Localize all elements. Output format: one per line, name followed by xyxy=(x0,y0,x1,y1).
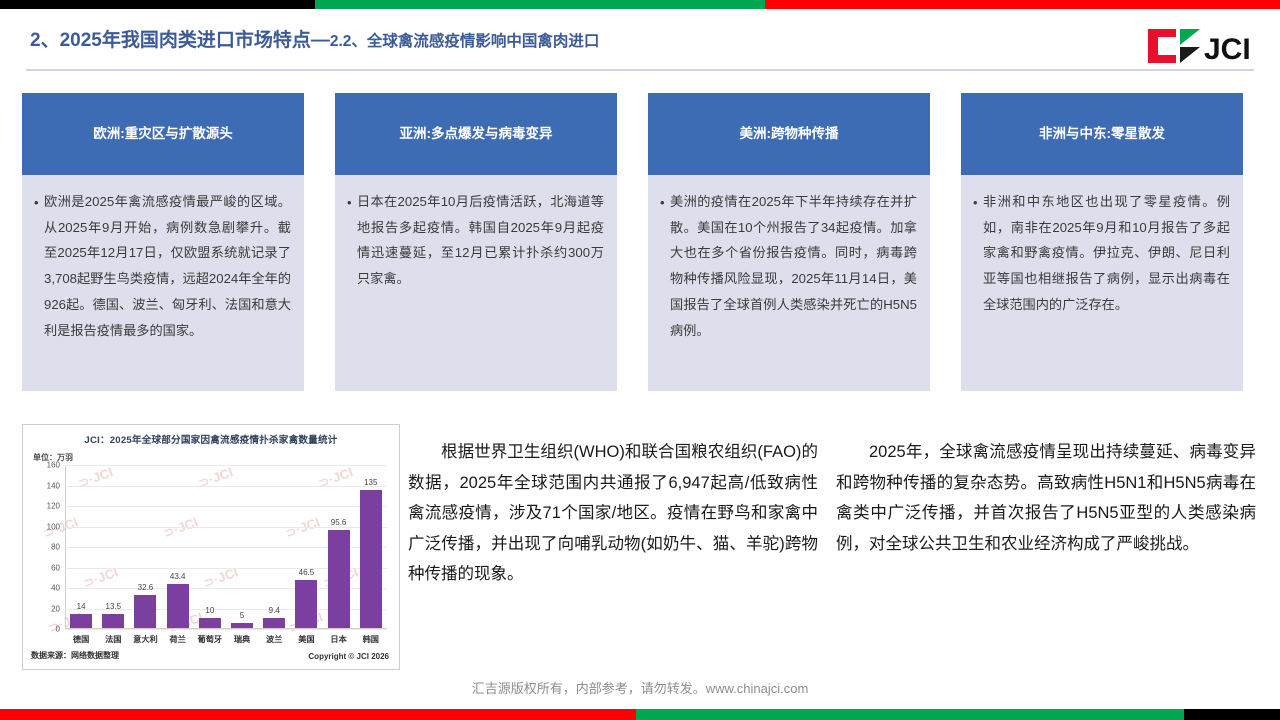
chart-x-tick-labels: 德国法国意大利荷兰葡萄牙瑞典波兰美国日本韩国 xyxy=(65,633,387,645)
card-africa-middleeast-body: • 非洲和中东地区也出现了零星疫情。例如，南非在2025年9月和10月报告了多起… xyxy=(961,175,1243,328)
bullet-icon: • xyxy=(34,189,44,343)
card-europe-heading: 欧洲:重灾区与扩散源头 xyxy=(93,125,233,143)
chart-bar-value-label: 10 xyxy=(205,606,214,615)
card-americas-text: 美洲的疫情在2025年下半年持续存在并扩散。美国在10个州报告了34起疫情。加拿… xyxy=(670,189,917,343)
bottom-bar-green-segment xyxy=(636,709,1184,720)
page-title-sub: 2.2、全球禽流感疫情影响中国禽肉进口 xyxy=(330,33,600,50)
top-bar-red-segment xyxy=(765,0,1280,9)
card-asia-header: 亚洲:多点爆发与病毒变异 xyxy=(335,93,617,175)
chart-y-tick-label: 40 xyxy=(51,584,60,593)
chart-x-tick-label: 法国 xyxy=(99,633,128,645)
card-asia-heading: 亚洲:多点爆发与病毒变异 xyxy=(400,125,553,143)
slide-header: 2、2025年我国肉类进口市场特点—2.2、全球禽流感疫情影响中国禽肉进口 JC… xyxy=(0,9,1280,71)
chart-bar[interactable] xyxy=(167,584,189,628)
chart-bar-value-label: 43.4 xyxy=(170,572,186,581)
bottom-color-bar xyxy=(0,709,1280,720)
card-africa-middleeast[interactable]: 非洲与中东:零星散发 • 非洲和中东地区也出现了零星疫情。例如，南非在2025年… xyxy=(961,93,1243,391)
card-americas-body: • 美洲的疫情在2025年下半年持续存在并扩散。美国在10个州报告了34起疫情。… xyxy=(648,175,930,353)
chart-gridline xyxy=(65,629,387,630)
chart-x-tick-label: 葡萄牙 xyxy=(195,633,224,645)
chart-bar[interactable] xyxy=(295,580,317,628)
chart-bar[interactable] xyxy=(328,530,350,628)
chart-bar-item[interactable]: 135 xyxy=(356,464,385,628)
region-cards: 欧洲:重灾区与扩散源头 • 欧洲是2025年禽流感疫情最严峻的区域。从2025年… xyxy=(22,93,1258,391)
card-americas-heading: 美洲:跨物种传播 xyxy=(740,125,839,143)
chart-x-tick-label: 德国 xyxy=(67,633,96,645)
chart-x-tick-label: 美国 xyxy=(292,633,321,645)
jci-logo-mark: JCI xyxy=(1146,27,1258,65)
svg-text:JCI: JCI xyxy=(1204,33,1251,65)
chart-y-tick-label: 60 xyxy=(51,563,60,572)
chart-x-tick-label: 韩国 xyxy=(356,633,385,645)
chart-x-tick-label: 波兰 xyxy=(260,633,289,645)
chart-bar-value-label: 14 xyxy=(77,602,86,611)
chart-y-tick-label: 160 xyxy=(47,461,60,470)
card-europe-header: 欧洲:重灾区与扩散源头 xyxy=(22,93,304,175)
chart-x-tick-label: 荷兰 xyxy=(163,633,192,645)
chart-y-tick-label: 20 xyxy=(51,604,60,613)
card-asia-text: 日本在2025年10月后疫情活跃，北海道等地报告多起疫情。韩国自2025年9月起… xyxy=(357,189,604,292)
footer-note: 汇吉源版权所有，内部参考，请勿转发。www.chinajci.com xyxy=(0,678,1280,697)
chart-bar[interactable] xyxy=(102,614,124,628)
page-title: 2、2025年我国肉类进口市场特点—2.2、全球禽流感疫情影响中国禽肉进口 xyxy=(30,25,599,52)
chart-plot-area: 020406080100120140160 1413.532.643.41059… xyxy=(65,465,387,629)
chart-bar[interactable] xyxy=(263,618,285,628)
card-africa-middleeast-text: 非洲和中东地区也出现了零星疫情。例如，南非在2025年9月和10月报告了多起家禽… xyxy=(983,189,1230,318)
chart-bar[interactable] xyxy=(360,490,382,628)
bullet-icon: • xyxy=(660,189,670,343)
chart-bar-value-label: 95.6 xyxy=(331,518,347,527)
chart-y-tick-label: 0 xyxy=(56,625,60,634)
chart-y-tick-label: 120 xyxy=(47,502,60,511)
chart-source-note: 数据来源：网络数据整理 xyxy=(31,650,119,661)
paragraph-middle: 根据世界卫生组织(WHO)和联合国粮农组织(FAO)的数据，2025年全球范围内… xyxy=(408,437,818,590)
card-asia-body: • 日本在2025年10月后疫情活跃，北海道等地报告多起疫情。韩国自2025年9… xyxy=(335,175,617,302)
chart-bar-value-label: 32.6 xyxy=(138,583,154,592)
card-europe[interactable]: 欧洲:重灾区与扩散源头 • 欧洲是2025年禽流感疫情最严峻的区域。从2025年… xyxy=(22,93,304,391)
chart-bar-value-label: 13.5 xyxy=(105,602,121,611)
chart-bar[interactable] xyxy=(231,623,253,628)
poultry-culling-bar-chart[interactable]: JCI：2025年全球部分国家因禽流感疫情扑杀家禽数量统计 单位：万羽 ⊃·JC… xyxy=(22,424,400,670)
chart-bar-value-label: 9.4 xyxy=(269,606,280,615)
chart-bar[interactable] xyxy=(134,595,156,628)
card-americas[interactable]: 美洲:跨物种传播 • 美洲的疫情在2025年下半年持续存在并扩散。美国在10个州… xyxy=(648,93,930,391)
card-africa-middleeast-header: 非洲与中东:零星散发 xyxy=(961,93,1243,175)
chart-bars: 1413.532.643.41059.446.595.6135 xyxy=(65,464,387,628)
header-divider xyxy=(26,69,1254,71)
chart-bar-value-label: 135 xyxy=(364,478,377,487)
top-bar-black-segment xyxy=(0,0,315,9)
bottom-bar-red-segment xyxy=(0,709,636,720)
chart-copyright: Copyright © JCI 2026 xyxy=(308,652,389,661)
chart-bar-item[interactable]: 95.6 xyxy=(324,464,353,628)
chart-x-tick-label: 意大利 xyxy=(131,633,160,645)
bullet-icon: • xyxy=(973,189,983,318)
chart-y-tick-label: 140 xyxy=(47,481,60,490)
bullet-icon: • xyxy=(347,189,357,292)
chart-bar-item[interactable]: 32.6 xyxy=(131,464,160,628)
chart-bar-value-label: 46.5 xyxy=(299,568,315,577)
chart-bar[interactable] xyxy=(70,614,92,628)
chart-bar-item[interactable]: 43.4 xyxy=(163,464,192,628)
top-bar-green-segment xyxy=(315,0,765,9)
chart-y-tick-label: 100 xyxy=(47,522,60,531)
chart-bar-item[interactable]: 10 xyxy=(195,464,224,628)
chart-bar-item[interactable]: 46.5 xyxy=(292,464,321,628)
card-americas-header: 美洲:跨物种传播 xyxy=(648,93,930,175)
jci-logo: JCI xyxy=(1146,27,1258,65)
chart-bar[interactable] xyxy=(199,618,221,628)
bottom-bar-black-segment xyxy=(1184,709,1280,720)
chart-x-tick-label: 瑞典 xyxy=(228,633,257,645)
card-africa-middleeast-heading: 非洲与中东:零星散发 xyxy=(1039,125,1165,143)
card-europe-text: 欧洲是2025年禽流感疫情最严峻的区域。从2025年9月开始，病例数急剧攀升。截… xyxy=(44,189,291,343)
card-asia[interactable]: 亚洲:多点爆发与病毒变异 • 日本在2025年10月后疫情活跃，北海道等地报告多… xyxy=(335,93,617,391)
card-europe-body: • 欧洲是2025年禽流感疫情最严峻的区域。从2025年9月开始，病例数急剧攀升… xyxy=(22,175,304,353)
chart-title: JCI：2025年全球部分国家因禽流感疫情扑杀家禽数量统计 xyxy=(23,432,399,446)
slide: 2、2025年我国肉类进口市场特点—2.2、全球禽流感疫情影响中国禽肉进口 JC… xyxy=(0,0,1280,720)
chart-bar-item[interactable]: 14 xyxy=(67,464,96,628)
paragraph-right: 2025年，全球禽流感疫情呈现出持续蔓延、病毒变异和跨物种传播的复杂态势。高致病… xyxy=(836,437,1256,559)
chart-bar-item[interactable]: 5 xyxy=(228,464,257,628)
chart-y-tick-label: 80 xyxy=(51,543,60,552)
chart-bar-item[interactable]: 13.5 xyxy=(99,464,128,628)
page-title-main: 2、2025年我国肉类进口市场特点— xyxy=(30,30,330,51)
chart-bar-value-label: 5 xyxy=(240,611,244,620)
top-color-bar xyxy=(0,0,1280,9)
chart-bar-item[interactable]: 9.4 xyxy=(260,464,289,628)
chart-x-tick-label: 日本 xyxy=(324,633,353,645)
